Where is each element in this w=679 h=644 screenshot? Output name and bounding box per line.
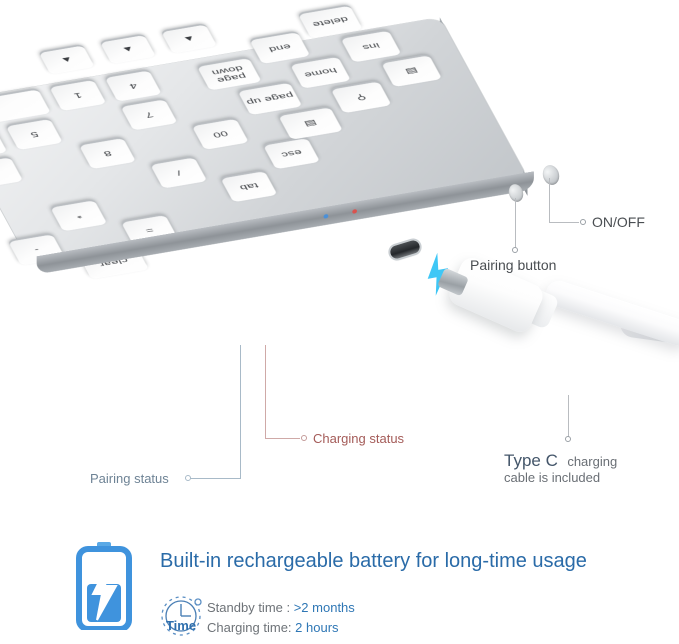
pairing-status-leader-vertical xyxy=(240,345,241,478)
on-off-leader-vertical xyxy=(549,178,550,222)
type-c-leader-dot xyxy=(565,436,571,442)
spec-standby-label: Standby time : xyxy=(207,600,294,615)
keypad-body: ▲ ▲ ▲ 0 1 4 2 3 5 7 6 9 xyxy=(0,17,527,262)
pairing-status-led xyxy=(324,214,329,219)
battery-icon xyxy=(76,542,132,630)
spec-standby-value: >2 months xyxy=(294,600,355,615)
arrow-up-glyph: ▲ xyxy=(59,55,75,64)
pairing-status-label: Pairing status xyxy=(90,471,169,486)
on-off-label: ON/OFF xyxy=(592,214,645,230)
spec-standby-time: Standby time : >2 months xyxy=(207,600,355,615)
on-off-leader-dot xyxy=(580,219,586,225)
spec-charging-value: 2 hours xyxy=(295,620,338,635)
spec-charging-time: Charging time: 2 hours xyxy=(207,620,339,635)
charging-status-leader-horizontal xyxy=(265,438,300,439)
pairing-status-leader-dot xyxy=(185,475,191,481)
arrow-left-glyph: ▲ xyxy=(120,45,136,54)
numeric-keypad-illustration: ▲ ▲ ▲ 0 1 4 2 3 5 7 6 9 xyxy=(0,0,640,390)
pairing-status-leader-horizontal xyxy=(190,478,241,479)
arrow-left-key[interactable]: ▲ xyxy=(100,35,156,64)
arrow-right-glyph: ▲ xyxy=(181,34,197,43)
charging-status-leader-dot xyxy=(301,435,307,441)
charging-status-leader-vertical xyxy=(265,345,266,438)
type-c-rest: charging xyxy=(567,454,617,469)
type-c-label-line1: Type C charging xyxy=(504,451,617,471)
type-c-label-line2: cable is included xyxy=(504,470,600,485)
pairing-button-leader-dot xyxy=(512,247,518,253)
svg-text:Time: Time xyxy=(166,618,196,633)
arrow-up-key[interactable]: ▲ xyxy=(39,46,95,75)
time-icon: Time xyxy=(155,594,213,638)
pairing-button-leader xyxy=(515,198,516,248)
product-feature-image: ▲ ▲ ▲ 0 1 4 2 3 5 7 6 9 xyxy=(0,0,679,644)
spec-charging-label: Charging time: xyxy=(207,620,295,635)
type-c-title: Type C xyxy=(504,451,558,470)
charging-status-label: Charging status xyxy=(313,431,404,446)
charging-status-led xyxy=(352,209,357,214)
arrow-right-key[interactable]: ▲ xyxy=(161,25,217,54)
battery-headline: Built-in rechargeable battery for long-t… xyxy=(160,550,587,573)
on-off-leader-horizontal xyxy=(549,222,579,223)
battery-feature-band: Built-in rechargeable battery for long-t… xyxy=(0,528,679,644)
type-c-leader xyxy=(568,395,569,437)
pairing-button-label: Pairing button xyxy=(470,257,556,273)
